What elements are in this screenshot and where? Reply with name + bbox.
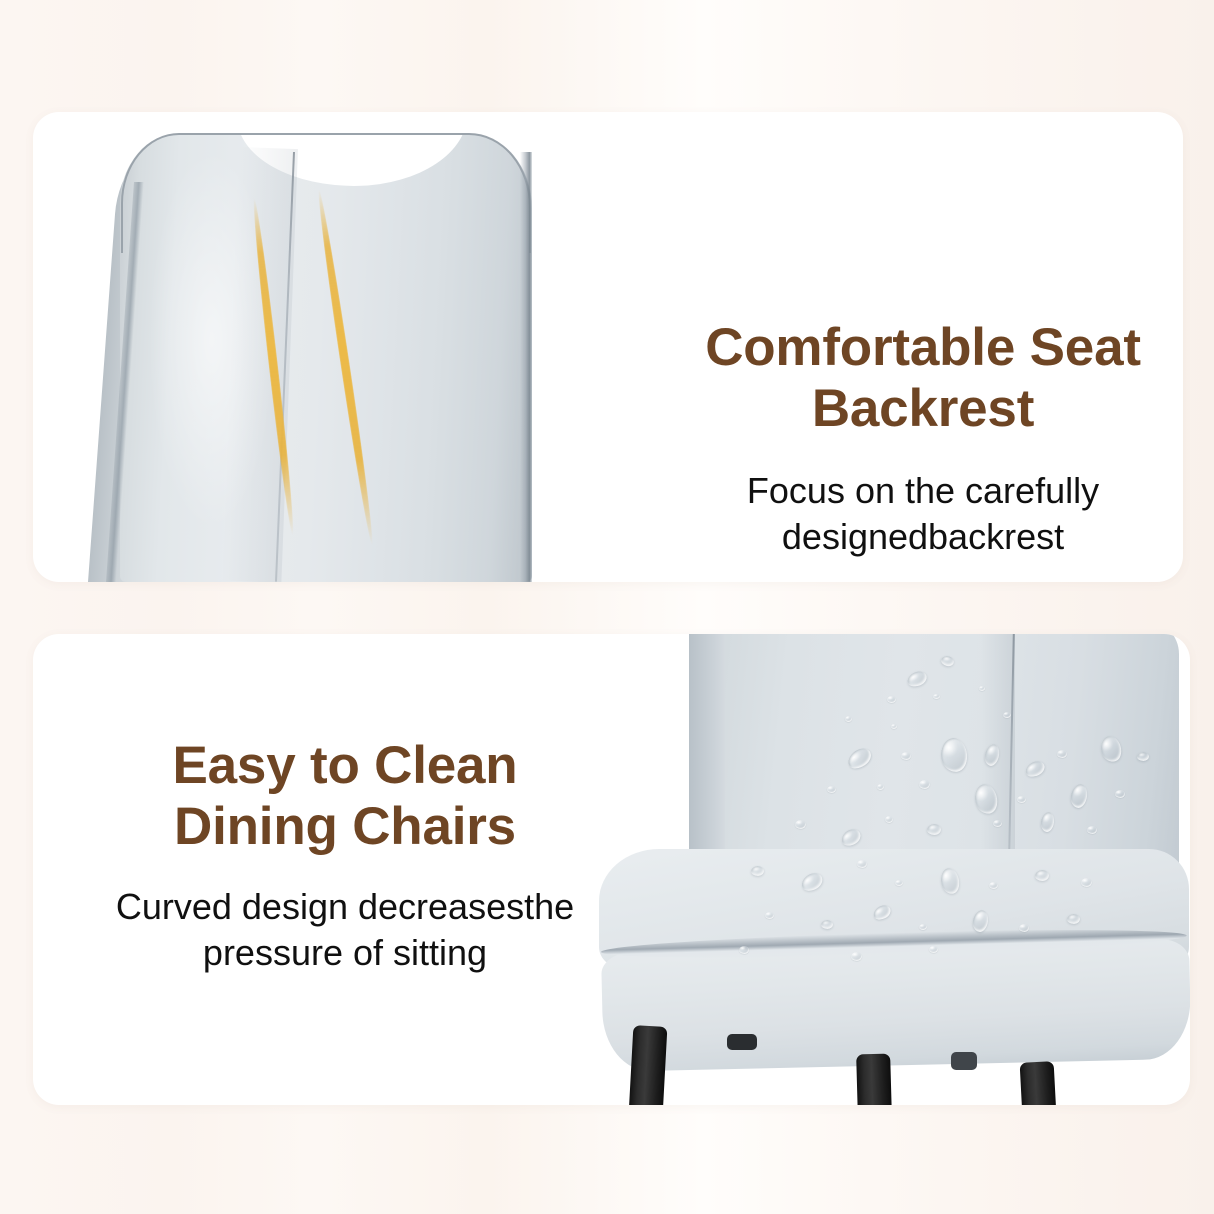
water-droplet <box>1003 712 1011 718</box>
water-droplet <box>1137 752 1149 761</box>
bottom-panel-text-block: Easy to Clean Dining Chairs Curved desig… <box>85 735 605 975</box>
water-droplet <box>887 696 896 703</box>
water-droplet <box>821 920 833 929</box>
water-droplet <box>927 824 941 835</box>
top-panel-subtext-line1: Focus on the carefully <box>633 468 1183 514</box>
chair-backrest-closeup-image <box>88 112 548 582</box>
water-droplet <box>929 946 938 953</box>
water-droplet <box>1035 870 1049 881</box>
chair-leg-rear-right <box>1020 1061 1057 1105</box>
top-panel-headline: Comfortable Seat Backrest <box>633 317 1183 440</box>
water-droplet <box>891 724 897 729</box>
water-droplet <box>885 816 893 823</box>
chair-leg-front-right <box>856 1054 892 1105</box>
chair-leg-front-left <box>629 1025 668 1105</box>
chair-leg-bracket-left <box>727 1034 757 1050</box>
chair-leg-bracket-right <box>951 1052 977 1070</box>
water-droplet <box>845 716 852 722</box>
water-droplet <box>795 820 806 829</box>
water-droplet <box>993 820 1002 827</box>
water-droplet <box>877 784 884 790</box>
water-droplet <box>739 946 749 954</box>
backrest-right-rim <box>520 152 532 582</box>
bottom-panel-headline-line2: Dining Chairs <box>85 796 605 857</box>
water-droplet <box>919 780 930 789</box>
water-droplet <box>979 686 985 691</box>
water-droplet <box>1067 914 1080 924</box>
water-droplet <box>1019 924 1029 932</box>
feature-card-easy-to-clean-dining-chairs: Easy to Clean Dining Chairs Curved desig… <box>33 634 1190 1105</box>
water-droplet <box>989 882 998 889</box>
top-panel-subtext-line2: designedbackrest <box>633 514 1183 560</box>
feature-card-comfortable-seat-backrest: Comfortable Seat Backrest Focus on the c… <box>33 112 1183 582</box>
chair-seat-cushion-apron <box>601 939 1190 1072</box>
water-droplet <box>1017 796 1026 803</box>
top-panel-headline-line1: Comfortable Seat <box>633 317 1183 378</box>
water-droplet <box>1057 750 1067 758</box>
water-droplet <box>919 924 927 930</box>
chair-water-droplets-image <box>589 634 1190 1105</box>
bottom-panel-headline: Easy to Clean Dining Chairs <box>85 735 605 858</box>
water-droplet <box>933 694 940 699</box>
top-panel-headline-line2: Backrest <box>633 378 1183 439</box>
water-droplet <box>901 752 911 760</box>
bottom-panel-subtext-line1: Curved design decreasesthe <box>85 884 605 930</box>
water-droplet <box>1087 826 1097 834</box>
water-droplet <box>827 786 836 793</box>
top-panel-subtext: Focus on the carefully designedbackrest <box>633 468 1183 559</box>
water-droplet <box>1081 878 1092 887</box>
bottom-panel-subtext: Curved design decreasesthe pressure of s… <box>85 884 605 975</box>
water-droplet <box>857 860 867 868</box>
water-droplet <box>851 952 862 961</box>
bottom-panel-subtext-line2: pressure of sitting <box>85 930 605 976</box>
water-droplet <box>1115 790 1125 798</box>
water-droplet <box>751 866 764 876</box>
water-droplet <box>765 912 774 919</box>
top-panel-text-block: Comfortable Seat Backrest Focus on the c… <box>633 317 1183 559</box>
water-droplet <box>895 880 903 886</box>
bottom-panel-headline-line1: Easy to Clean <box>85 735 605 796</box>
